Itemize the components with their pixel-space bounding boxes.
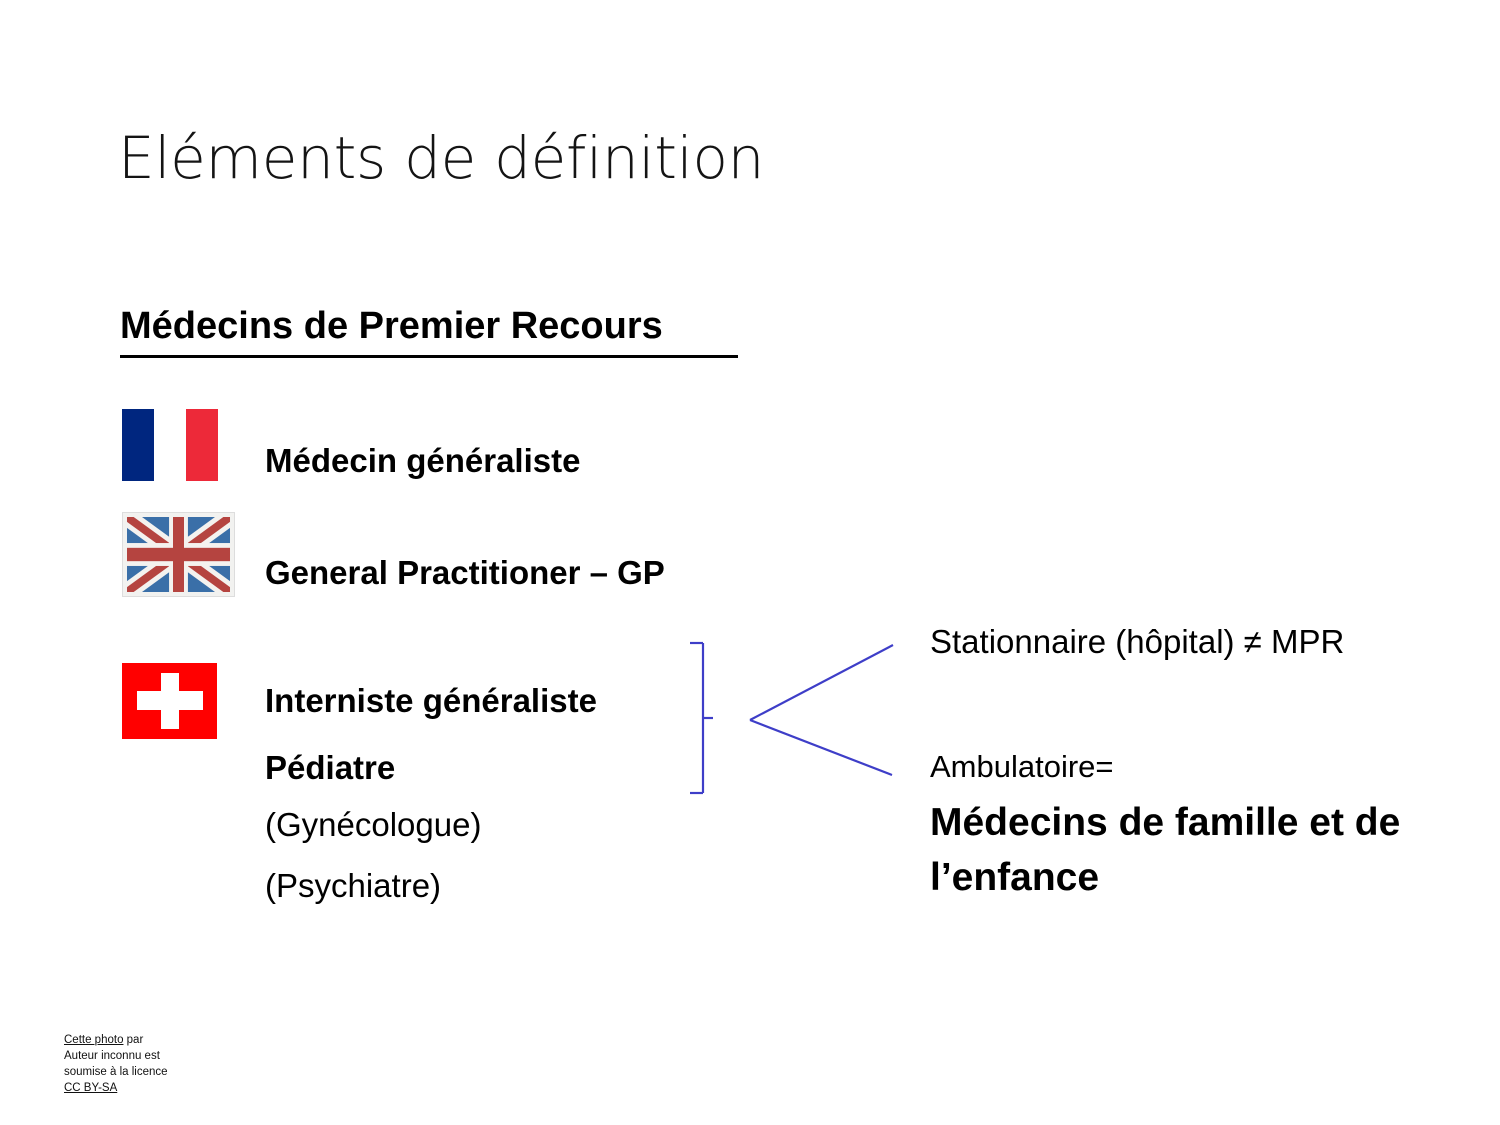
section-heading: Médecins de Premier Recours bbox=[120, 305, 663, 349]
flag-france-band-white bbox=[154, 409, 186, 481]
label-medecin-generaliste: Médecin généraliste bbox=[265, 441, 580, 481]
flag-united-kingdom-icon bbox=[122, 512, 235, 597]
slide-canvas: Eléments de définition Médecins de Premi… bbox=[0, 0, 1500, 1125]
flag-uk-canvas bbox=[127, 517, 230, 592]
flag-switzerland-cross-horizontal bbox=[137, 691, 203, 710]
flag-france-band-blue bbox=[122, 409, 154, 481]
image-attribution: Cette photo par Auteur inconnu est soumi… bbox=[64, 1033, 174, 1096]
page-title: Eléments de définition bbox=[118, 126, 764, 191]
label-gynecologue: (Gynécologue) bbox=[265, 805, 481, 845]
branch-label-ambulatoire: Ambulatoire= bbox=[930, 748, 1114, 785]
attribution-license-link[interactable]: CC BY-SA bbox=[64, 1082, 117, 1094]
branch-label-medecins-famille-enfance: Médecins de famille et de l’enfance bbox=[930, 795, 1450, 906]
label-psychiatre: (Psychiatre) bbox=[265, 866, 441, 906]
label-pediatre: Pédiatre bbox=[265, 748, 395, 788]
attribution-photo-link[interactable]: Cette photo bbox=[64, 1034, 123, 1046]
label-general-practitioner: General Practitioner – GP bbox=[265, 553, 665, 593]
label-interniste-generaliste: Interniste généraliste bbox=[265, 681, 597, 721]
branch-label-stationnaire: Stationnaire (hôpital) ≠ MPR bbox=[930, 622, 1344, 662]
flag-switzerland-icon bbox=[122, 663, 217, 739]
right-curly-brace bbox=[690, 643, 713, 793]
flag-france-band-red bbox=[186, 409, 218, 481]
connector-graphics bbox=[680, 620, 920, 820]
flag-france-icon bbox=[122, 409, 218, 481]
section-heading-underline bbox=[120, 355, 738, 358]
fork-split-arrow bbox=[750, 645, 893, 775]
